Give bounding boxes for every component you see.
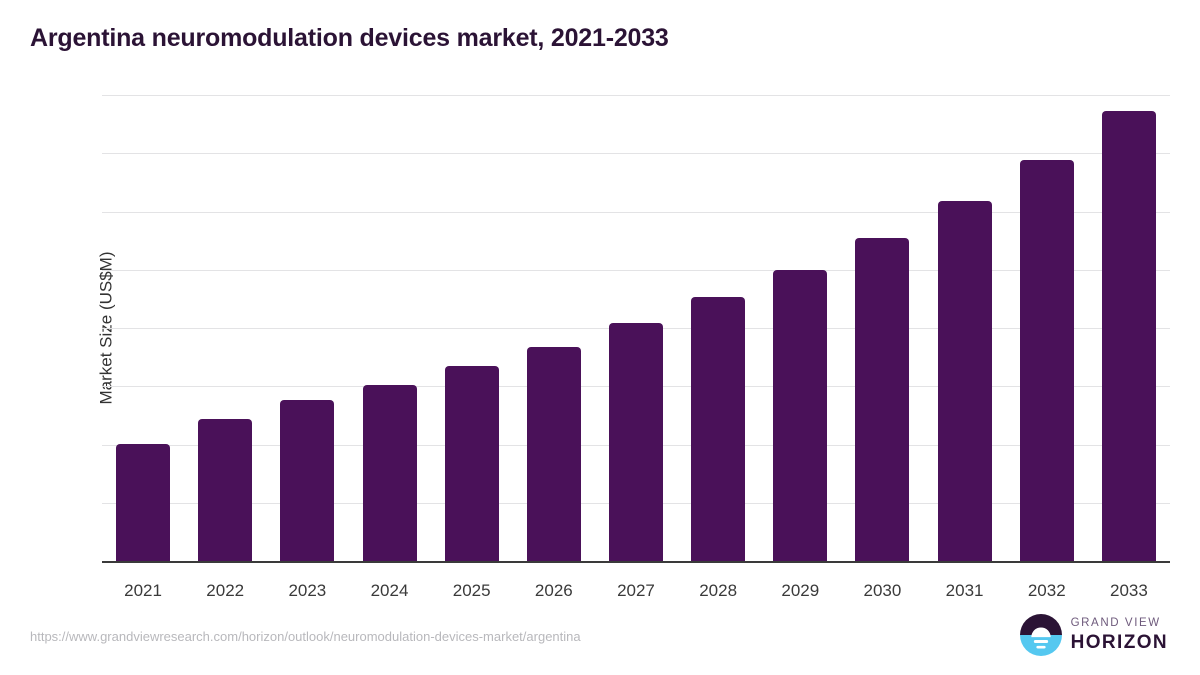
source-url[interactable]: https://www.grandviewresearch.com/horizo… [30,629,581,644]
bar-group: 2026 [513,95,595,561]
bar-group: 2027 [595,95,677,561]
x-axis-line [102,561,1170,563]
x-tick-label: 2029 [781,581,819,601]
bar[interactable] [691,297,745,561]
bar[interactable] [363,385,417,561]
x-tick-label: 2023 [288,581,326,601]
x-tick-label: 2033 [1110,581,1148,601]
bar-group: 2021 [102,95,184,561]
bar[interactable] [527,347,581,561]
bar[interactable] [1020,160,1074,561]
bar-group: 2024 [348,95,430,561]
bar[interactable] [938,201,992,561]
x-tick-label: 2024 [371,581,409,601]
bar[interactable] [445,366,499,561]
brand-logo: GRAND VIEW HORIZON [1020,614,1168,656]
page-title: Argentina neuromodulation devices market… [30,24,669,53]
bar-group: 2033 [1088,95,1170,561]
x-tick-label: 2027 [617,581,655,601]
logo-wordmark: GRAND VIEW HORIZON [1071,618,1168,653]
x-tick-label: 2030 [864,581,902,601]
logo-bottom-line: HORIZON [1071,633,1168,652]
bar-group: 2030 [841,95,923,561]
bar-group: 2023 [266,95,348,561]
bar-group: 2031 [924,95,1006,561]
bar[interactable] [855,238,909,561]
bar[interactable] [1102,111,1156,561]
x-tick-label: 2021 [124,581,162,601]
x-tick-label: 2022 [206,581,244,601]
chart-canvas: Argentina neuromodulation devices market… [0,0,1200,675]
bar[interactable] [198,419,252,561]
sunrise-circle-icon [1020,614,1062,656]
bar-group: 2032 [1006,95,1088,561]
x-tick-label: 2032 [1028,581,1066,601]
bar[interactable] [609,323,663,561]
bar-group: 2028 [677,95,759,561]
bar[interactable] [116,444,170,561]
logo-top-line: GRAND VIEW [1071,618,1168,630]
x-tick-label: 2031 [946,581,984,601]
x-tick-label: 2028 [699,581,737,601]
bar-group: 2022 [184,95,266,561]
bar[interactable] [773,270,827,561]
x-tick-label: 2026 [535,581,573,601]
bar-series: 2021202220232024202520262027202820292030… [102,95,1170,561]
plot-area: Market Size (US$M) 01020304050607080 202… [102,95,1170,561]
bar-group: 2029 [759,95,841,561]
x-tick-label: 2025 [453,581,491,601]
bar[interactable] [280,400,334,561]
bar-group: 2025 [431,95,513,561]
